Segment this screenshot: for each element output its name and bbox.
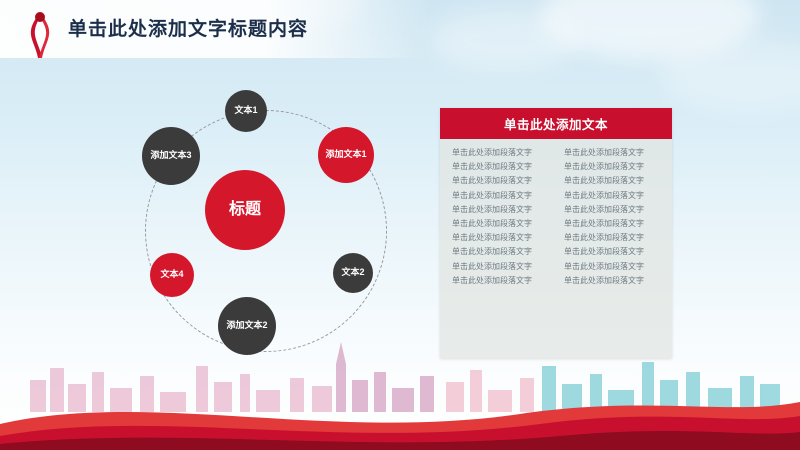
diagram-node-label: 添加文本2 — [226, 320, 267, 331]
panel-line: 单击此处添加段落文字 — [452, 162, 550, 171]
diagram-node-text2[interactable]: 文本2 — [333, 253, 373, 293]
diagram-node-text4[interactable]: 文本4 — [150, 253, 194, 297]
panel-line: 单击此处添加段落文字 — [564, 219, 662, 228]
panel-line: 单击此处添加段落文字 — [452, 276, 550, 285]
panel-line: 单击此处添加段落文字 — [564, 148, 662, 157]
page-title: 单击此处添加文字标题内容 — [68, 14, 308, 41]
panel-line: 单击此处添加段落文字 — [564, 191, 662, 200]
text-panel-header-label: 单击此处添加文本 — [504, 114, 608, 133]
panel-line: 单击此处添加段落文字 — [564, 205, 662, 214]
diagram-node-add-text2[interactable]: 添加文本2 — [218, 297, 276, 355]
panel-line: 单击此处添加段落文字 — [564, 247, 662, 256]
text-panel-column-left: 单击此处添加段落文字 单击此处添加段落文字 单击此处添加段落文字 单击此处添加段… — [452, 148, 550, 348]
panel-line: 单击此处添加段落文字 — [452, 191, 550, 200]
panel-line: 单击此处添加段落文字 — [452, 205, 550, 214]
diagram-node-text1[interactable]: 文本1 — [225, 90, 267, 132]
panel-line: 单击此处添加段落文字 — [452, 219, 550, 228]
diagram-node-label: 文本2 — [341, 267, 364, 278]
panel-line: 单击此处添加段落文字 — [452, 176, 550, 185]
panel-line: 单击此处添加段落文字 — [564, 233, 662, 242]
panel-line: 单击此处添加段落文字 — [452, 148, 550, 157]
panel-line: 单击此处添加段落文字 — [452, 233, 550, 242]
red-wave-decoration — [0, 380, 800, 450]
diagram-node-add-text1[interactable]: 添加文本1 — [318, 127, 374, 183]
text-panel-body: 单击此处添加段落文字 单击此处添加段落文字 单击此处添加段落文字 单击此处添加段… — [452, 148, 662, 348]
text-panel-header: 单击此处添加文本 — [440, 108, 672, 139]
panel-line: 单击此处添加段落文字 — [564, 162, 662, 171]
panel-line: 单击此处添加段落文字 — [564, 276, 662, 285]
circular-diagram: 标题 文本1 添加文本1 文本2 添加文本2 文本4 添加文本3 — [120, 85, 410, 375]
cloud-shape — [430, 10, 580, 70]
slide-canvas: 单击此处添加文字标题内容 标题 文本1 添加文本1 文本2 添加文本2 文本4 — [0, 0, 800, 450]
panel-line: 单击此处添加段落文字 — [564, 262, 662, 271]
red-ribbon-icon — [18, 8, 62, 60]
text-panel-column-right: 单击此处添加段落文字 单击此处添加段落文字 单击此处添加段落文字 单击此处添加段… — [564, 148, 662, 348]
diagram-node-label: 添加文本3 — [150, 150, 191, 161]
diagram-node-label: 添加文本1 — [325, 149, 366, 160]
diagram-center-label: 标题 — [229, 200, 261, 220]
diagram-node-label: 文本1 — [234, 105, 257, 116]
diagram-node-add-text3[interactable]: 添加文本3 — [142, 127, 200, 185]
diagram-center-node[interactable]: 标题 — [205, 170, 285, 250]
panel-line: 单击此处添加段落文字 — [452, 247, 550, 256]
panel-line: 单击此处添加段落文字 — [452, 262, 550, 271]
panel-line: 单击此处添加段落文字 — [564, 176, 662, 185]
diagram-node-label: 文本4 — [160, 269, 183, 280]
